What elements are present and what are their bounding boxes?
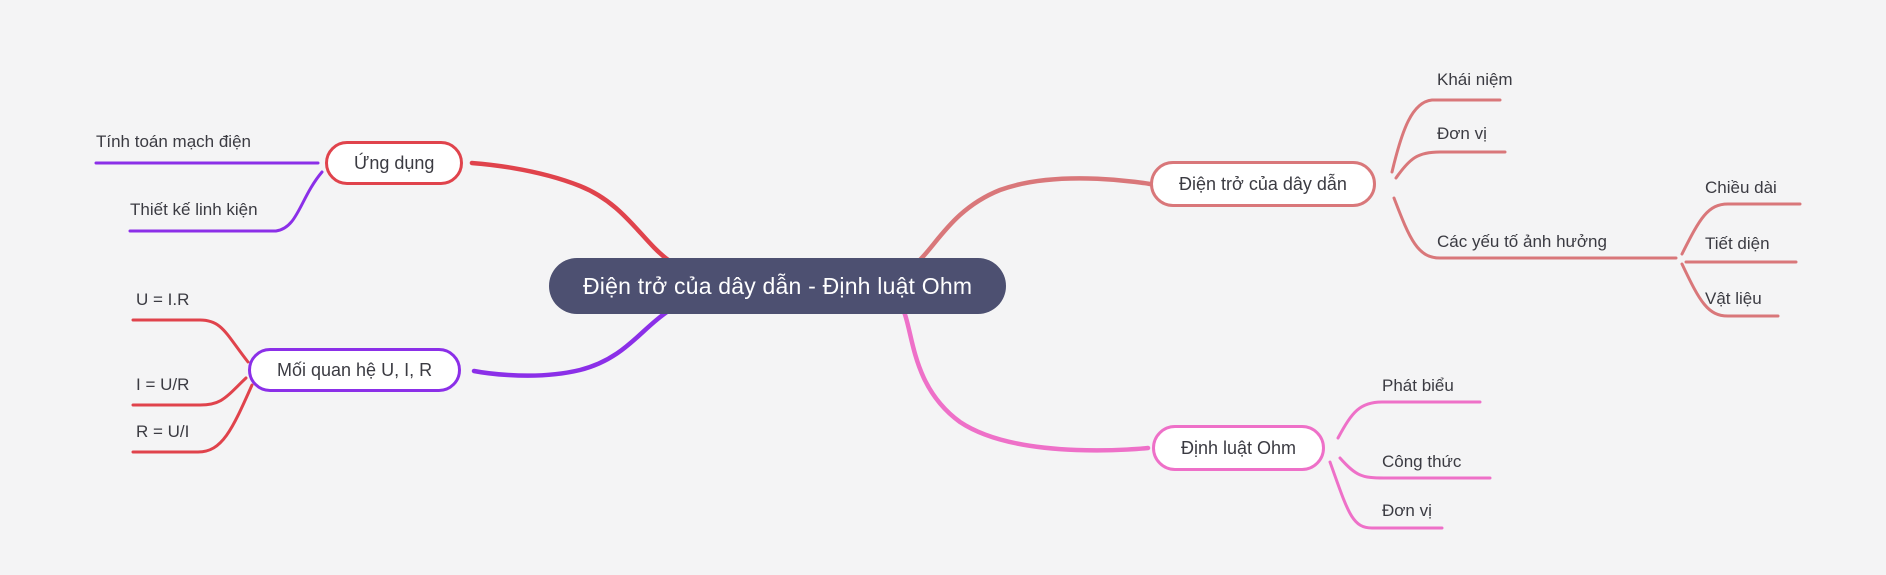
leaf-u-ir[interactable]: U = I.R bbox=[136, 291, 189, 308]
leaf-don-vi-ohm[interactable]: Đơn vị bbox=[1382, 502, 1432, 519]
edge-dinh-luat-ohm-child-0 bbox=[1338, 402, 1480, 438]
branch-node-ung-dung[interactable]: Ứng dụng bbox=[325, 141, 463, 185]
leaf-khai-niem[interactable]: Khái niệm bbox=[1437, 71, 1513, 88]
leaf-i-ur[interactable]: I = U/R bbox=[136, 376, 189, 393]
branch-node-moi-quan-he[interactable]: Mối quan hệ U, I, R bbox=[248, 348, 461, 392]
leaf-tinh-toan-mach-dien[interactable]: Tính toán mạch điện bbox=[96, 133, 251, 150]
branch-label-dinh-luat-ohm: Định luật Ohm bbox=[1181, 438, 1296, 459]
branch-label-ung-dung: Ứng dụng bbox=[354, 153, 434, 174]
edge-root-ung-dung bbox=[472, 163, 700, 272]
leaf-chieu-dai[interactable]: Chiều dài bbox=[1705, 179, 1777, 196]
leaf-r-ui[interactable]: R = U/I bbox=[136, 423, 189, 440]
edge-moi-quan-he-child-2 bbox=[133, 385, 252, 452]
leaf-vat-lieu[interactable]: Vật liệu bbox=[1705, 290, 1762, 307]
branch-node-dinh-luat-ohm[interactable]: Định luật Ohm bbox=[1152, 425, 1325, 471]
leaf-cong-thuc[interactable]: Công thức bbox=[1382, 453, 1461, 470]
leaf-tiet-dien[interactable]: Tiết diện bbox=[1705, 235, 1770, 252]
leaf-thiet-ke-linh-kien[interactable]: Thiết kế linh kiện bbox=[130, 201, 258, 218]
edge-dien-tro-child-1 bbox=[1396, 152, 1505, 178]
root-node-label: Điện trở của dây dẫn - Định luật Ohm bbox=[583, 273, 972, 300]
edge-moi-quan-he-child-0 bbox=[133, 320, 248, 362]
branch-label-moi-quan-he: Mối quan hệ U, I, R bbox=[277, 360, 432, 381]
branch-label-dien-tro-day-dan: Điện trở của dây dẫn bbox=[1179, 174, 1347, 195]
root-node[interactable]: Điện trở của dây dẫn - Định luật Ohm bbox=[549, 258, 1006, 314]
branch-node-dien-tro-day-dan[interactable]: Điện trở của dây dẫn bbox=[1150, 161, 1376, 207]
leaf-cac-yeu-to-anh-huong[interactable]: Các yếu tố ảnh hưởng bbox=[1437, 233, 1607, 250]
leaf-don-vi-dien-tro[interactable]: Đơn vị bbox=[1437, 125, 1487, 142]
edge-root-dinh-luat-ohm bbox=[898, 302, 1148, 450]
leaf-phat-bieu[interactable]: Phát biểu bbox=[1382, 377, 1454, 394]
